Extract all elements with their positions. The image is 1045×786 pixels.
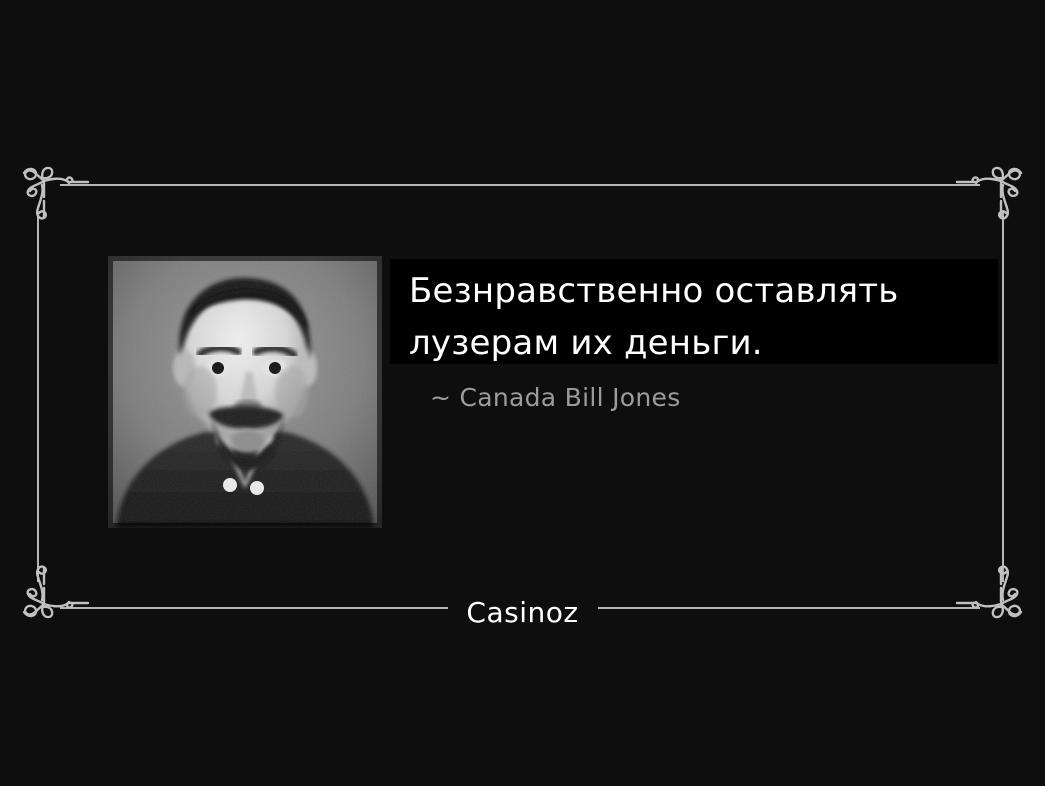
quote-card: Безнравственно оставлять лузерам их день… [0, 0, 1045, 786]
brand-caption: Casinoz [0, 596, 1045, 629]
frame-line-left [37, 212, 39, 582]
portrait-photo [108, 256, 382, 528]
frame-line-top [60, 184, 980, 186]
corner-flourish-icon-top-left [14, 155, 92, 233]
quote-text: Безнравственно оставлять лузерам их день… [409, 265, 1009, 369]
quote-attribution: ~ Canada Bill Jones [430, 383, 681, 412]
corner-flourish-icon-top-right [953, 155, 1031, 233]
